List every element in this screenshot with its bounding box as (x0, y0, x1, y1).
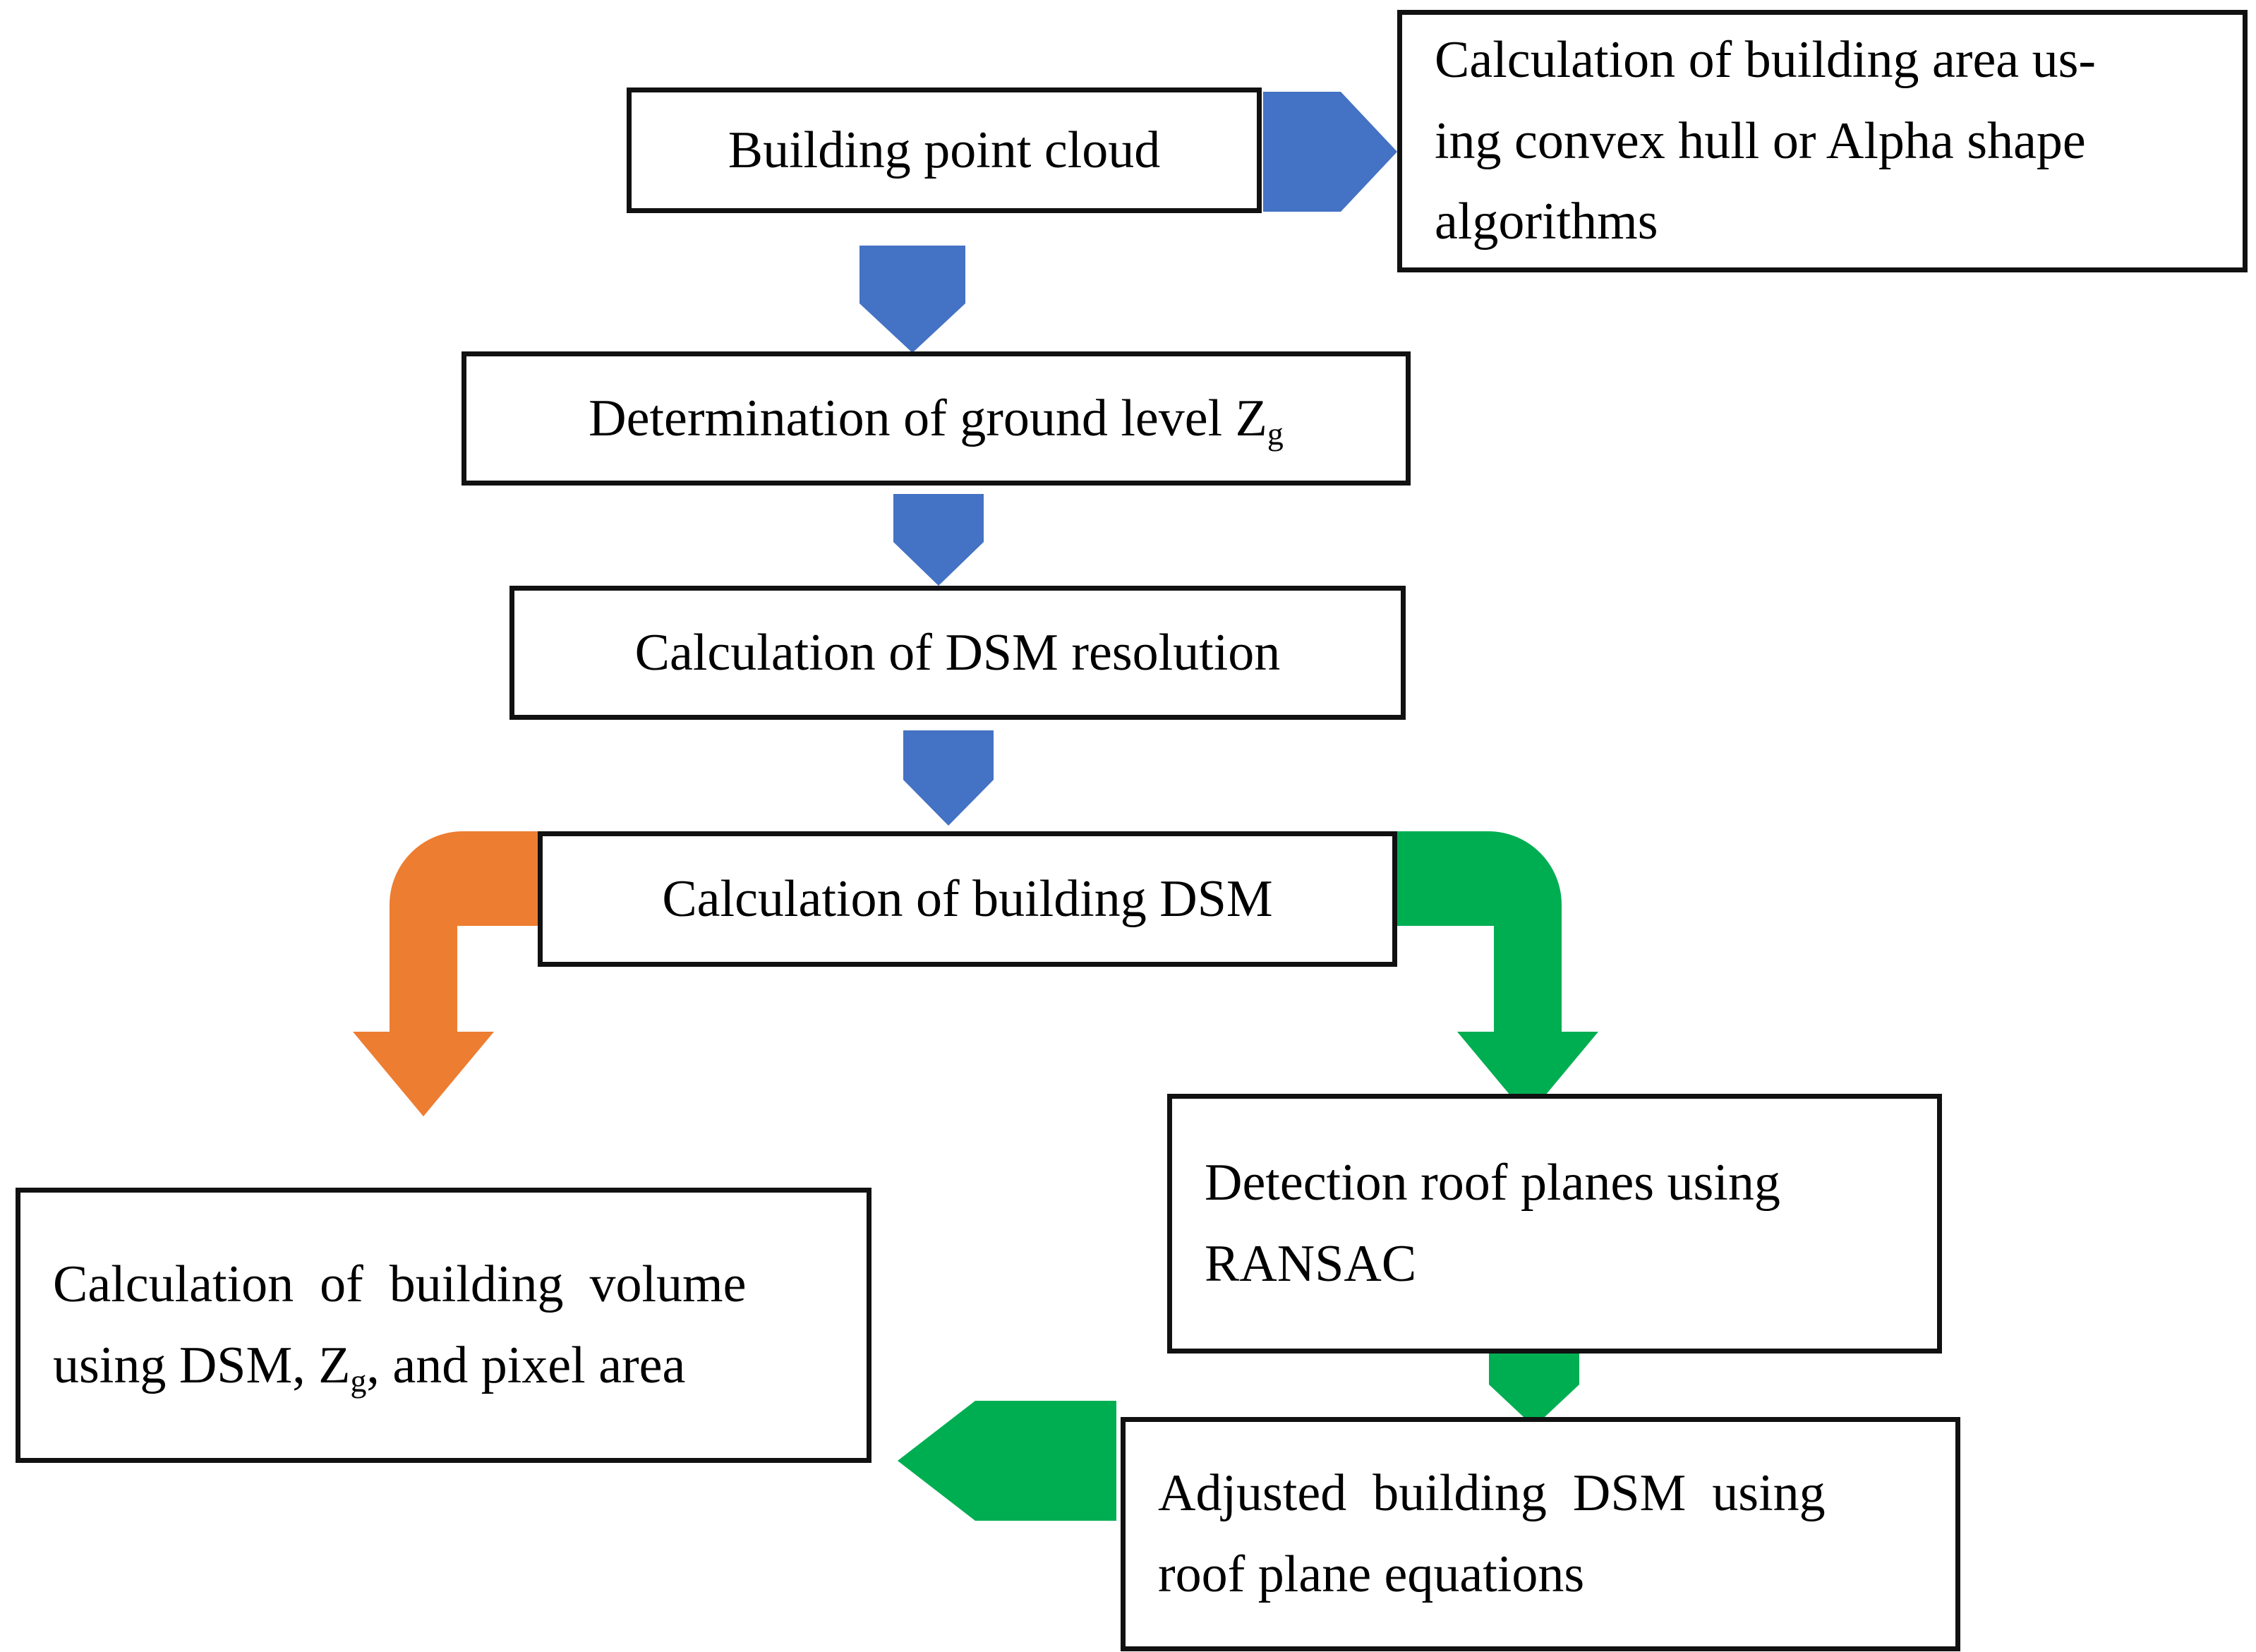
arrow-right-icon (1263, 85, 1397, 219)
elbow-arrow-left-down-icon (353, 827, 565, 1123)
node-label: Calculation of DSM resolution (514, 613, 1401, 694)
node-label-line-1: Calculation of building volume (53, 1244, 838, 1325)
node-label-line-1: Calculation of building area us- (1435, 20, 2214, 101)
node-label-line-2-b: , and pixel area (366, 1337, 685, 1394)
node-label-line-2: RANSAC (1205, 1224, 1909, 1305)
node-label: Building point cloud (632, 110, 1257, 191)
elbow-arrow-building-dsm-to-building-volume (353, 827, 565, 1123)
node-roof-plane-detection[interactable]: Detection roof planes using RANSAC (1167, 1094, 1942, 1353)
arrow-down-icon (903, 730, 994, 826)
arrow-down-icon (1489, 1341, 1579, 1427)
flowchart-canvas: Building point cloud Calculation of buil… (0, 0, 2256, 1652)
node-label: Determination of ground level Zg (466, 378, 1406, 459)
node-label: Calculation of building DSM (543, 859, 1392, 940)
arrow-down-icon (859, 246, 965, 353)
node-building-volume[interactable]: Calculation of building volume using DSM… (16, 1188, 871, 1463)
arrow-down-dsm-resolution-to-building-dsm (903, 730, 994, 826)
arrow-left-icon (898, 1401, 1116, 1521)
node-building-dsm[interactable]: Calculation of building DSM (538, 831, 1397, 967)
node-area-calculation[interactable]: Calculation of building area us- ing con… (1397, 10, 2248, 272)
arrow-down-point-cloud-to-ground-level (859, 246, 965, 353)
node-label-line-2: roof plane equations (1158, 1534, 1927, 1615)
node-label-line-3: algorithms (1435, 181, 2214, 263)
node-label-line-2-a: using DSM, Z (53, 1337, 350, 1394)
node-label-text: Determination of ground level Z (589, 390, 1267, 447)
node-label-line-2: using DSM, Zg, and pixel area (53, 1325, 838, 1406)
arrow-down-roof-planes-to-adjusted-dsm (1489, 1341, 1579, 1427)
subscript-g: g (350, 1363, 366, 1399)
node-building-point-cloud[interactable]: Building point cloud (627, 88, 1262, 213)
elbow-arrow-right-down-icon (1383, 827, 1598, 1123)
arrow-left-adjusted-dsm-to-building-volume (898, 1401, 1116, 1521)
arrow-right-point-cloud-to-area (1263, 85, 1397, 219)
node-adjusted-dsm[interactable]: Adjusted building DSM using roof plane e… (1121, 1417, 1960, 1651)
arrow-down-ground-level-to-dsm-resolution (893, 494, 984, 586)
elbow-arrow-building-dsm-to-roof-planes (1383, 827, 1598, 1123)
node-label-line-1: Detection roof planes using (1205, 1142, 1909, 1224)
node-label-line-1: Adjusted building DSM using (1158, 1453, 1927, 1534)
node-dsm-resolution[interactable]: Calculation of DSM resolution (509, 586, 1406, 720)
arrow-down-icon (893, 494, 984, 586)
node-ground-level[interactable]: Determination of ground level Zg (462, 351, 1411, 486)
subscript-g: g (1267, 416, 1284, 452)
node-label-line-2: ing convex hull or Alpha shape (1435, 101, 2214, 182)
